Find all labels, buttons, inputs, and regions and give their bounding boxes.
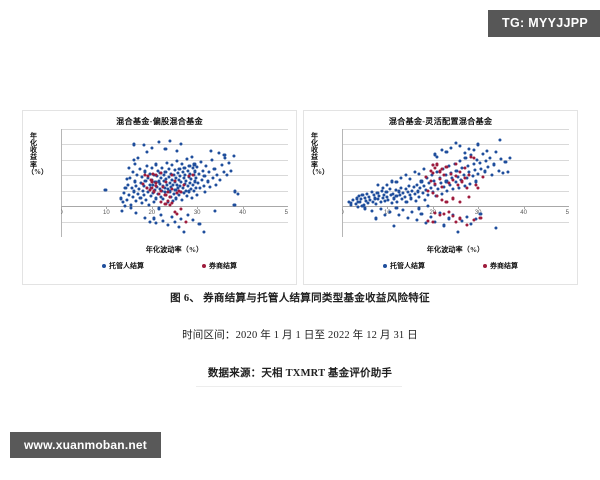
- scatter-point: [175, 212, 178, 215]
- scatter-point: [134, 199, 137, 202]
- scatter-point: [202, 231, 205, 234]
- scatter-point: [166, 223, 169, 226]
- scatter-point: [471, 175, 474, 178]
- scatter-point: [418, 195, 421, 198]
- scatter-point: [440, 192, 443, 195]
- scatter-point: [161, 166, 164, 169]
- gridline-horizontal: [61, 160, 288, 161]
- scatter-point: [445, 165, 448, 168]
- scatter-point: [155, 197, 158, 200]
- chart-xlabel-right: 年化波动率（%）: [342, 245, 569, 255]
- scatter-point: [472, 162, 475, 165]
- scatter-point: [455, 169, 458, 172]
- scatter-point: [495, 151, 498, 154]
- legend-item-broker: 券商结算: [483, 261, 518, 271]
- scatter-point: [456, 230, 459, 233]
- scatter-point: [415, 183, 418, 186]
- scatter-point: [131, 171, 134, 174]
- scatter-point: [182, 230, 185, 233]
- site-watermark: www.xuanmoban.net: [10, 432, 161, 458]
- scatter-point: [477, 186, 480, 189]
- scatter-point: [504, 161, 507, 164]
- scatter-point: [458, 160, 461, 163]
- scatter-point: [217, 151, 220, 154]
- scatter-point: [143, 216, 146, 219]
- scatter-point: [468, 148, 471, 151]
- scatter-point: [436, 195, 439, 198]
- scatter-point: [461, 180, 464, 183]
- scatter-point: [447, 211, 450, 214]
- scatter-point: [470, 222, 473, 225]
- caption-separator: [196, 386, 402, 387]
- scatter-point: [199, 161, 202, 164]
- scatter-point: [409, 197, 412, 200]
- scatter-point: [427, 205, 430, 208]
- scatter-point: [200, 178, 203, 181]
- legend-item-custodian: 托管人结算: [383, 261, 425, 271]
- scatter-point: [452, 215, 455, 218]
- x-axis-tick-label: 50: [566, 210, 569, 216]
- scatter-point: [417, 190, 420, 193]
- scatter-point: [477, 143, 480, 146]
- y-axis-line: [342, 129, 343, 237]
- scatter-point: [172, 184, 175, 187]
- scatter-point: [373, 197, 376, 200]
- figure-caption-source: 数据来源：天相 TXMRT 基金评价助手: [0, 369, 600, 380]
- scatter-point: [380, 189, 383, 192]
- chart-title-right: 混合基金-灵活配置混合基金: [304, 115, 577, 127]
- x-tickmark: [433, 206, 434, 209]
- scatter-point: [232, 154, 235, 157]
- scatter-point: [227, 161, 230, 164]
- scatter-point: [212, 177, 215, 180]
- scatter-point: [431, 171, 434, 174]
- scatter-point: [230, 169, 233, 172]
- scatter-points-left: -20-100102030405001020304050: [61, 129, 288, 237]
- scatter-point: [148, 221, 151, 224]
- x-axis-line: [61, 206, 288, 207]
- scatter-point: [201, 169, 204, 172]
- scatter-point: [151, 167, 154, 170]
- scatter-point: [402, 208, 405, 211]
- scatter-point: [454, 162, 457, 165]
- scatter-point: [190, 155, 193, 158]
- scatter-point: [381, 186, 384, 189]
- scatter-point: [412, 185, 415, 188]
- scatter-point: [446, 189, 449, 192]
- scatter-point: [495, 226, 498, 229]
- scatter-point: [413, 171, 416, 174]
- scatter-point: [473, 168, 476, 171]
- scatter-point: [204, 191, 207, 194]
- scatter-point: [497, 169, 500, 172]
- scatter-point: [356, 205, 359, 208]
- scatter-point: [180, 208, 183, 211]
- scatter-point: [184, 221, 187, 224]
- scatter-point: [472, 148, 475, 151]
- scatter-point: [429, 215, 432, 218]
- scatter-point: [213, 168, 216, 171]
- scatter-point: [175, 149, 178, 152]
- scatter-point: [409, 178, 412, 181]
- scatter-point: [207, 171, 210, 174]
- scatter-point: [209, 185, 212, 188]
- scatter-point: [487, 165, 490, 168]
- scatter-point: [486, 149, 489, 152]
- scatter-point: [481, 175, 484, 178]
- scatter-point: [438, 214, 441, 217]
- scatter-point: [395, 181, 398, 184]
- scatter-point: [429, 186, 432, 189]
- scatter-point: [479, 168, 482, 171]
- scatter-point: [159, 214, 162, 217]
- scatter-point: [143, 194, 146, 197]
- scatter-point: [399, 176, 402, 179]
- scatter-points-right: -20-100102030405001020304050: [342, 129, 569, 237]
- scatter-point: [447, 217, 450, 220]
- scatter-point: [123, 192, 126, 195]
- y-axis-line: [61, 129, 62, 237]
- chart-panel-right: 混合基金-灵活配置混合基金 年化收益率（%） -20-1001020304050…: [303, 110, 578, 285]
- scatter-point: [134, 212, 137, 215]
- scatter-point: [468, 174, 471, 177]
- x-axis-tick-label: 0: [61, 210, 63, 216]
- chart-xlabel-left: 年化波动率（%）: [61, 245, 288, 255]
- scatter-point: [506, 171, 509, 174]
- scatter-point: [154, 163, 157, 166]
- scatter-point: [146, 151, 149, 154]
- scatter-point: [458, 200, 461, 203]
- chart-ylabel-right: 年化收益率（%）: [308, 133, 321, 176]
- scatter-point: [427, 193, 430, 196]
- scatter-point: [168, 168, 171, 171]
- scatter-point: [180, 218, 183, 221]
- legend-dot-blue-icon: [102, 264, 106, 268]
- scatter-point: [468, 195, 471, 198]
- x-axis-tick-label: 40: [239, 210, 246, 216]
- scatter-point: [158, 207, 161, 210]
- scatter-point: [153, 190, 156, 193]
- scatter-point: [498, 138, 501, 141]
- scatter-point: [123, 205, 126, 208]
- scatter-point: [164, 171, 167, 174]
- scatter-point: [164, 202, 167, 205]
- scatter-point: [128, 166, 131, 169]
- scatter-point: [205, 164, 208, 167]
- scatter-point: [463, 177, 466, 180]
- scatter-point: [411, 210, 414, 213]
- legend-item-broker: 券商结算: [202, 261, 237, 271]
- scatter-point: [405, 201, 408, 204]
- scatter-point: [395, 206, 398, 209]
- x-tickmark: [61, 206, 62, 209]
- scatter-point: [422, 185, 425, 188]
- scatter-point: [130, 186, 133, 189]
- scatter-point: [210, 158, 213, 161]
- legend-label-custodian: 托管人结算: [390, 261, 425, 271]
- scatter-point: [378, 195, 381, 198]
- scatter-point: [481, 152, 484, 155]
- scatter-point: [141, 189, 144, 192]
- scatter-point: [128, 176, 131, 179]
- scatter-point: [155, 222, 158, 225]
- x-axis-line: [342, 206, 569, 207]
- scatter-point: [429, 179, 432, 182]
- scatter-point: [198, 187, 201, 190]
- scatter-point: [171, 164, 174, 167]
- scatter-point: [149, 195, 152, 198]
- scatter-point: [420, 180, 423, 183]
- scatter-point: [387, 198, 390, 201]
- scatter-point: [194, 186, 197, 189]
- scatter-point: [164, 148, 167, 151]
- scatter-point: [130, 206, 133, 209]
- x-tickmark: [197, 206, 198, 209]
- scatter-point: [125, 198, 128, 201]
- scatter-point: [226, 174, 229, 177]
- scatter-point: [375, 202, 378, 205]
- scatter-point: [140, 202, 143, 205]
- scatter-point: [379, 201, 382, 204]
- scatter-point: [127, 183, 130, 186]
- scatter-point: [359, 201, 362, 204]
- scatter-point: [408, 185, 411, 188]
- scatter-point: [395, 195, 398, 198]
- figure-caption-period: 时间区间：2020 年 1 月 1 日至 2022 年 12 月 31 日: [0, 331, 600, 342]
- scatter-point: [458, 171, 461, 174]
- scatter-point: [132, 143, 135, 146]
- scatter-point: [438, 170, 441, 173]
- x-tickmark: [152, 206, 153, 209]
- scatter-point: [420, 212, 423, 215]
- scatter-point: [196, 165, 199, 168]
- gridline-horizontal: [61, 129, 288, 130]
- scatter-point: [168, 140, 171, 143]
- scatter-point: [436, 155, 439, 158]
- legend-label-custodian: 托管人结算: [109, 261, 144, 271]
- gridline-horizontal: [342, 160, 569, 161]
- scatter-point: [191, 196, 194, 199]
- scatter-point: [431, 191, 434, 194]
- scatter-point: [166, 191, 169, 194]
- figure-charts-row: 混合基金-偏股混合基金 年化收益率（%） -20-100102030405001…: [22, 110, 578, 285]
- scatter-point: [406, 216, 409, 219]
- scatter-point: [177, 225, 180, 228]
- scatter-point: [440, 198, 443, 201]
- scatter-point: [443, 224, 446, 227]
- scatter-point: [419, 187, 422, 190]
- chart-ylabel-left: 年化收益率（%）: [27, 133, 40, 176]
- scatter-point: [485, 160, 488, 163]
- scatter-point: [454, 220, 457, 223]
- scatter-point: [159, 201, 162, 204]
- scatter-point: [236, 193, 239, 196]
- scatter-point: [490, 174, 493, 177]
- scatter-point: [360, 198, 363, 201]
- scatter-point: [175, 197, 178, 200]
- scatter-point: [209, 150, 212, 153]
- scatter-point: [404, 174, 407, 177]
- scatter-point: [194, 170, 197, 173]
- scatter-point: [133, 180, 136, 183]
- legend-label-broker: 券商结算: [490, 261, 518, 271]
- scatter-point: [502, 171, 505, 174]
- x-axis-tick-label: 10: [103, 210, 110, 216]
- scatter-point: [403, 195, 406, 198]
- chart-legend-right: 托管人结算 券商结算: [334, 261, 567, 271]
- x-axis-tick-label: 40: [520, 210, 527, 216]
- x-tickmark: [387, 206, 388, 209]
- legend-label-broker: 券商结算: [209, 261, 237, 271]
- scatter-point: [177, 194, 180, 197]
- scatter-point: [152, 200, 155, 203]
- telegram-handle-badge: TG: MYYJJPP: [488, 10, 600, 37]
- legend-dot-red-icon: [202, 264, 206, 268]
- scatter-point: [468, 182, 471, 185]
- scatter-point: [153, 217, 156, 220]
- scatter-point: [377, 184, 380, 187]
- scatter-point: [431, 221, 434, 224]
- gridline-horizontal: [61, 144, 288, 145]
- scatter-point: [390, 202, 393, 205]
- figure-caption-title: 图 6、 券商结算与托管人结算同类型基金收益风险特征: [0, 294, 600, 305]
- scatter-point: [146, 164, 149, 167]
- scatter-point: [192, 189, 195, 192]
- x-axis-tick-label: 20: [148, 210, 155, 216]
- scatter-point: [121, 201, 124, 204]
- scatter-point: [467, 164, 470, 167]
- scatter-point: [370, 209, 373, 212]
- scatter-point: [434, 166, 437, 169]
- scatter-point: [137, 192, 140, 195]
- scatter-point: [166, 161, 169, 164]
- x-tickmark: [478, 206, 479, 209]
- scatter-point: [418, 207, 421, 210]
- scatter-point: [445, 151, 448, 154]
- x-axis-tick-label: 0: [342, 210, 344, 216]
- scatter-point: [143, 144, 146, 147]
- scatter-point: [162, 198, 165, 201]
- scatter-point: [190, 178, 193, 181]
- scatter-point: [133, 190, 136, 193]
- scatter-point: [483, 170, 486, 173]
- scatter-point: [195, 176, 198, 179]
- scatter-point: [465, 187, 468, 190]
- scatter-point: [427, 189, 430, 192]
- scatter-point: [379, 208, 382, 211]
- scatter-point: [375, 217, 378, 220]
- scatter-point: [449, 146, 452, 149]
- x-tickmark: [106, 206, 107, 209]
- scatter-point: [399, 186, 402, 189]
- scatter-point: [132, 195, 135, 198]
- x-axis-tick-label: 30: [194, 210, 201, 216]
- scatter-point: [187, 213, 190, 216]
- scatter-point: [488, 156, 491, 159]
- scatter-point: [463, 167, 466, 170]
- scatter-point: [150, 146, 153, 149]
- scatter-point: [393, 225, 396, 228]
- gridline-horizontal: [342, 129, 569, 130]
- scatter-point: [422, 168, 425, 171]
- scatter-point: [157, 141, 160, 144]
- scatter-point: [138, 168, 141, 171]
- scatter-point: [203, 175, 206, 178]
- legend-dot-blue-icon: [383, 264, 387, 268]
- scatter-point: [402, 191, 405, 194]
- scatter-point: [182, 183, 185, 186]
- scatter-point: [148, 183, 151, 186]
- scatter-point: [145, 198, 148, 201]
- scatter-point: [220, 164, 223, 167]
- scatter-point: [176, 160, 179, 163]
- scatter-point: [465, 215, 468, 218]
- x-tickmark: [243, 206, 244, 209]
- scatter-point: [436, 163, 439, 166]
- scatter-point: [143, 170, 146, 173]
- scatter-point: [214, 209, 217, 212]
- scatter-point: [222, 171, 225, 174]
- scatter-point: [218, 178, 221, 181]
- gridline-horizontal: [342, 144, 569, 145]
- scatter-point: [171, 202, 174, 205]
- scatter-point: [438, 178, 441, 181]
- chart-legend-left: 托管人结算 券商结算: [53, 261, 286, 271]
- scatter-point: [171, 215, 174, 218]
- scatter-point: [124, 187, 127, 190]
- scatter-point: [421, 191, 424, 194]
- scatter-point: [133, 162, 136, 165]
- scatter-point: [390, 180, 393, 183]
- legend-dot-red-icon: [483, 264, 487, 268]
- scatter-point: [367, 202, 370, 205]
- scatter-point: [202, 185, 205, 188]
- x-axis-tick-label: 50: [285, 210, 288, 216]
- scatter-point: [423, 198, 426, 201]
- scatter-point: [186, 195, 189, 198]
- scatter-point: [139, 196, 142, 199]
- scatter-point: [493, 163, 496, 166]
- chart-title-left: 混合基金-偏股混合基金: [23, 115, 296, 127]
- scatter-point: [214, 183, 217, 186]
- scatter-point: [445, 201, 448, 204]
- x-tickmark: [524, 206, 525, 209]
- scatter-point: [185, 179, 188, 182]
- scatter-point: [478, 161, 481, 164]
- scatter-point: [396, 200, 399, 203]
- scatter-point: [195, 194, 198, 197]
- scatter-point: [391, 192, 394, 195]
- chart-panel-left: 混合基金-偏股混合基金 年化收益率（%） -20-100102030405001…: [22, 110, 297, 285]
- scatter-point: [439, 181, 442, 184]
- scatter-point: [386, 183, 389, 186]
- scatter-point: [385, 191, 388, 194]
- scatter-point: [443, 212, 446, 215]
- scatter-point: [452, 197, 455, 200]
- scatter-point: [397, 214, 400, 217]
- scatter-point: [180, 162, 183, 165]
- scatter-point: [440, 148, 443, 151]
- scatter-point: [128, 193, 131, 196]
- scatter-point: [463, 151, 466, 154]
- scatter-point: [206, 180, 209, 183]
- x-tickmark: [342, 206, 343, 209]
- scatter-point: [458, 144, 461, 147]
- plot-area-right: -20-100102030405001020304050: [342, 129, 569, 237]
- scatter-point: [465, 223, 468, 226]
- figure-caption-block: 图 6、 券商结算与托管人结算同类型基金收益风险特征 时间区间：2020 年 1…: [0, 294, 600, 380]
- scatter-point: [119, 197, 122, 200]
